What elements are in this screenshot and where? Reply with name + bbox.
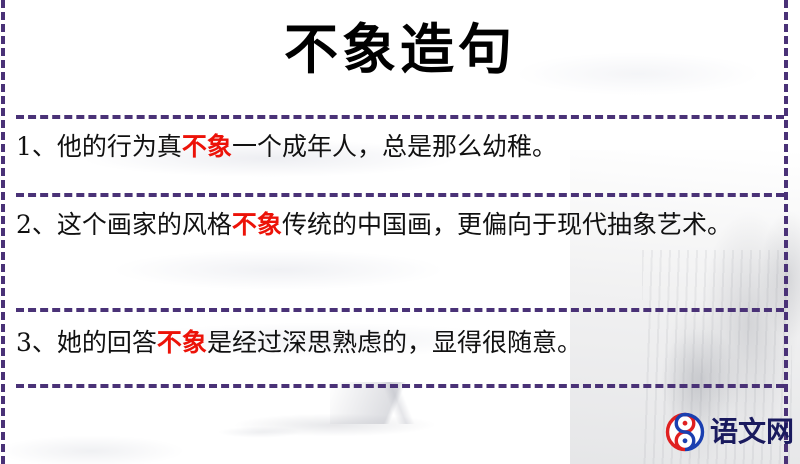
- divider-rule-4: [16, 384, 784, 388]
- sentence-text-before-3: 她的回答: [57, 328, 157, 357]
- sentence-text-before-2: 这个画家的风格: [57, 210, 232, 239]
- sentence-index-1: 1、: [16, 132, 57, 161]
- keyword-highlight-1: 不象: [182, 132, 232, 161]
- slide-page: 不象造句 1、他的行为真不象一个成年人，总是那么幼稚。 2、这个画家的风格不象传…: [0, 0, 800, 464]
- sentence-text-after-1: 一个成年人，总是那么幼稚。: [232, 132, 557, 161]
- sentence-index-3: 3、: [16, 328, 57, 357]
- yin-yang-circle-icon: [665, 412, 705, 452]
- keyword-highlight-2: 不象: [232, 210, 282, 239]
- example-sentence-2: 2、这个画家的风格不象传统的中国画，更偏向于现代抽象艺术。: [16, 206, 776, 244]
- ink-wash-hill-watermark: [0, 400, 260, 464]
- page-title: 不象造句: [0, 18, 800, 80]
- divider-rule-3: [16, 308, 784, 312]
- divider-rule-1: [16, 115, 784, 119]
- ink-wash-boat-watermark: [170, 395, 470, 455]
- site-logo[interactable]: 语文网: [665, 408, 785, 456]
- example-sentence-1: 1、他的行为真不象一个成年人，总是那么幼稚。: [16, 128, 776, 166]
- divider-rule-2: [16, 193, 784, 197]
- ink-wash-sail-watermark: [330, 382, 460, 424]
- site-logo-text: 语文网: [710, 418, 794, 446]
- example-sentence-3: 3、她的回答不象是经过深思熟虑的，显得很随意。: [16, 324, 776, 362]
- sentence-index-2: 2、: [16, 210, 57, 239]
- keyword-highlight-3: 不象: [157, 328, 207, 357]
- sentence-text-after-2: 传统的中国画，更偏向于现代抽象艺术。: [282, 210, 732, 239]
- sentence-text-before-1: 他的行为真: [57, 132, 182, 161]
- sentence-text-after-3: 是经过深思熟虑的，显得很随意。: [207, 328, 582, 357]
